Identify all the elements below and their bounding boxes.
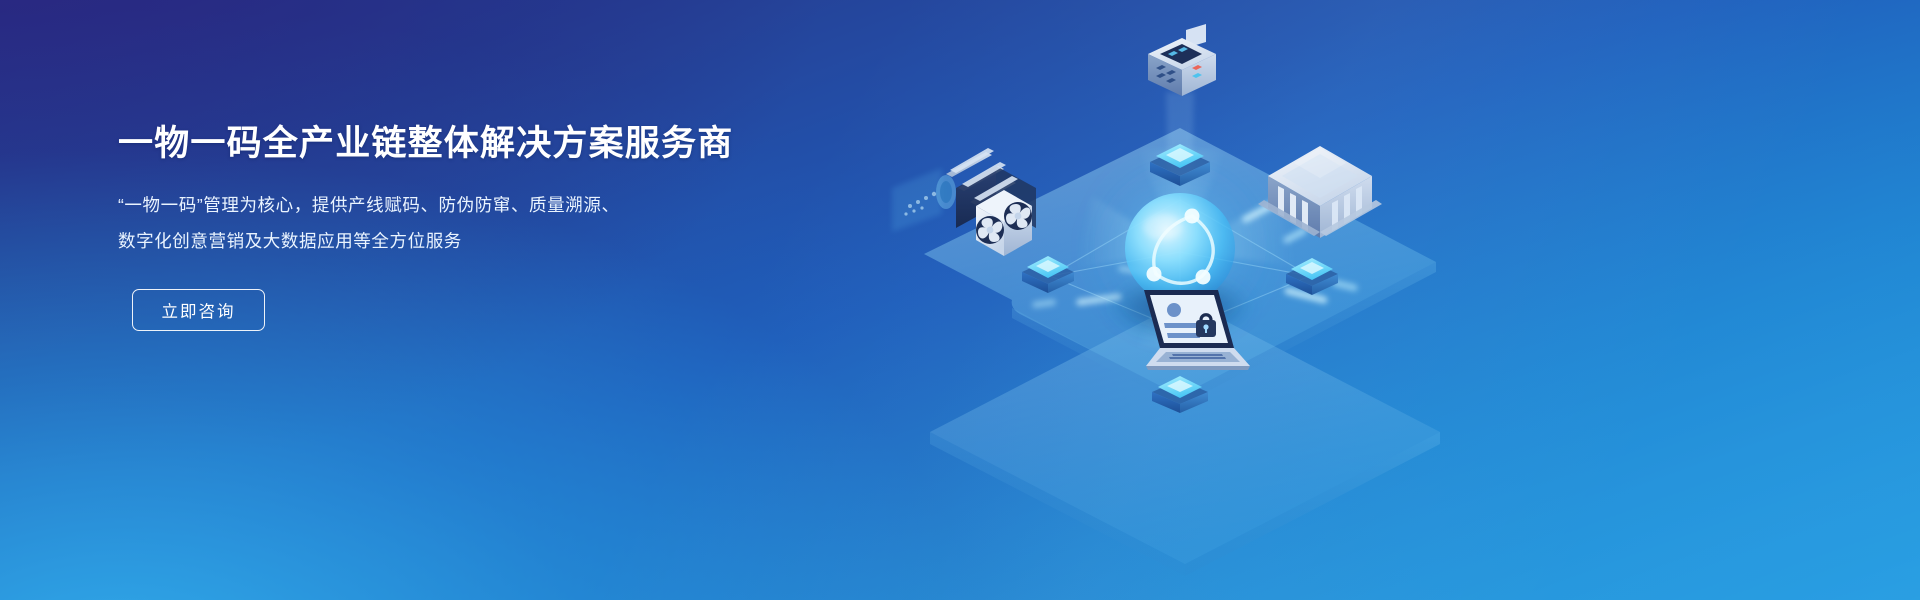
hero-banner: 一物一码全产业链整体解决方案服务商 “一物一码”管理为核心，提供产线赋码、防伪防…	[0, 0, 1920, 600]
hero-copy-block: 一物一码全产业链整体解决方案服务商 “一物一码”管理为核心，提供产线赋码、防伪防…	[118, 124, 818, 331]
page-title: 一物一码全产业链整体解决方案服务商	[118, 124, 818, 164]
subtitle-line-1: “一物一码”管理为核心，提供产线赋码、防伪防窜、质量溯源、	[118, 187, 818, 223]
subtitle-line-2: 数字化创意营销及大数据应用等全方位服务	[118, 223, 818, 259]
hero-subtitle: “一物一码”管理为核心，提供产线赋码、防伪防窜、质量溯源、 数字化创意营销及大数…	[118, 187, 818, 259]
node-pos-terminal	[1148, 24, 1216, 186]
consult-now-button[interactable]: 立即咨询	[132, 289, 265, 331]
isometric-illustration	[880, 0, 1580, 600]
pos-terminal-icon	[1148, 24, 1216, 96]
